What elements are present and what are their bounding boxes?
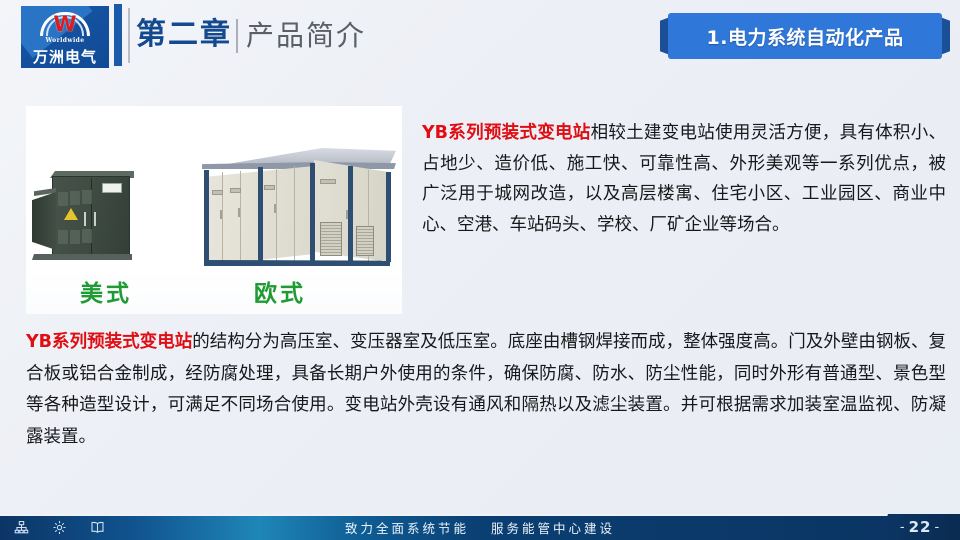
paragraph-highlight-term: YB系列预装式变电站 (26, 332, 192, 352)
eu-corner-post (204, 170, 209, 266)
footer-slogan: 致力全面系统节能 服务能管中心建设 (0, 514, 960, 540)
eu-corner-post (348, 166, 353, 262)
page-number-value: 22 (906, 518, 935, 536)
section-banner: 1.电力系统自动化产品 (660, 13, 950, 59)
eu-base-frame (204, 260, 390, 266)
worldwide-w-logo-icon: W (37, 11, 93, 37)
us-warning-triangle-icon (64, 208, 78, 220)
company-logo: W Worldwide 万洲电气 (21, 6, 109, 68)
paragraph-product-structure: YB系列预装式变电站的结构分为高压室、变压器室及低压室。底座由槽钢焊接而成，整体… (26, 327, 946, 453)
page-number-suffix: - (934, 520, 940, 535)
american-style-substation-illustration (32, 166, 152, 266)
eu-corner-post (258, 167, 263, 265)
european-style-substation-illustration (196, 126, 396, 274)
logo-letter-w: W (37, 14, 93, 35)
us-door-handle-left (84, 212, 86, 226)
slide: W Worldwide 万洲电气 第二章 产品简介 1.电力系统自动化产品 (0, 0, 960, 540)
eu-door-nameplate (212, 190, 223, 195)
page-number: - 22 - (880, 514, 960, 540)
logo-company-name: 万洲电气 (21, 46, 109, 67)
chapter-label: 第二章 (136, 17, 232, 53)
logo-worldwide-text: Worldwide (21, 37, 109, 44)
eu-corner-post (310, 163, 315, 263)
header-blue-accent-bar (114, 4, 122, 66)
page-title: 产品简介 (246, 18, 366, 54)
paragraph-product-overview: YB系列预装式变电站相较土建变电站使用灵活方便，具有体积小、占地少、造价低、施工… (422, 118, 946, 240)
paragraph-highlight-term: YB系列预装式变电站 (422, 123, 591, 143)
footer-slogan-left: 致力全面系统节能 (345, 518, 469, 537)
banner-title: 1.电力系统自动化产品 (668, 13, 942, 59)
eu-door-handle (346, 210, 348, 219)
eu-door-handle (274, 204, 276, 213)
us-vent (58, 192, 68, 206)
eu-door-handle (238, 208, 240, 217)
footer-slogan-right: 服务能管中心建设 (491, 518, 615, 537)
caption-american-style: 美式 (80, 274, 132, 308)
us-nameplate (102, 183, 122, 193)
us-base-frame (32, 254, 132, 260)
us-door-handle-right (94, 212, 96, 226)
caption-european-style: 欧式 (254, 274, 306, 308)
us-radiator-section (32, 192, 56, 250)
slide-footer: 致力全面系统节能 服务能管中心建设 - 22 - (0, 514, 960, 540)
substation-photo: 美式 欧式 (26, 106, 402, 314)
eu-door-nameplate (230, 188, 241, 193)
eu-panel-seam (240, 171, 241, 264)
eu-door-handle (220, 210, 222, 219)
us-vent (82, 190, 92, 204)
us-vent (82, 229, 92, 243)
header-gray-divider (128, 8, 130, 63)
slide-header: W Worldwide 万洲电气 第二章 产品简介 1.电力系统自动化产品 (0, 0, 960, 78)
eu-corner-post (386, 172, 391, 262)
eu-panel-seam (294, 166, 295, 262)
us-vent (70, 230, 80, 244)
us-vent (70, 191, 80, 205)
chapter-title-divider (236, 19, 238, 53)
eu-ventilation-grille (320, 222, 342, 256)
us-vent (58, 230, 68, 244)
eu-door-nameplate (320, 179, 336, 184)
eu-panel-seam (276, 168, 277, 263)
eu-door-nameplate (264, 185, 275, 190)
eu-ventilation-grille (356, 226, 374, 256)
eu-panel-seam (222, 172, 223, 264)
